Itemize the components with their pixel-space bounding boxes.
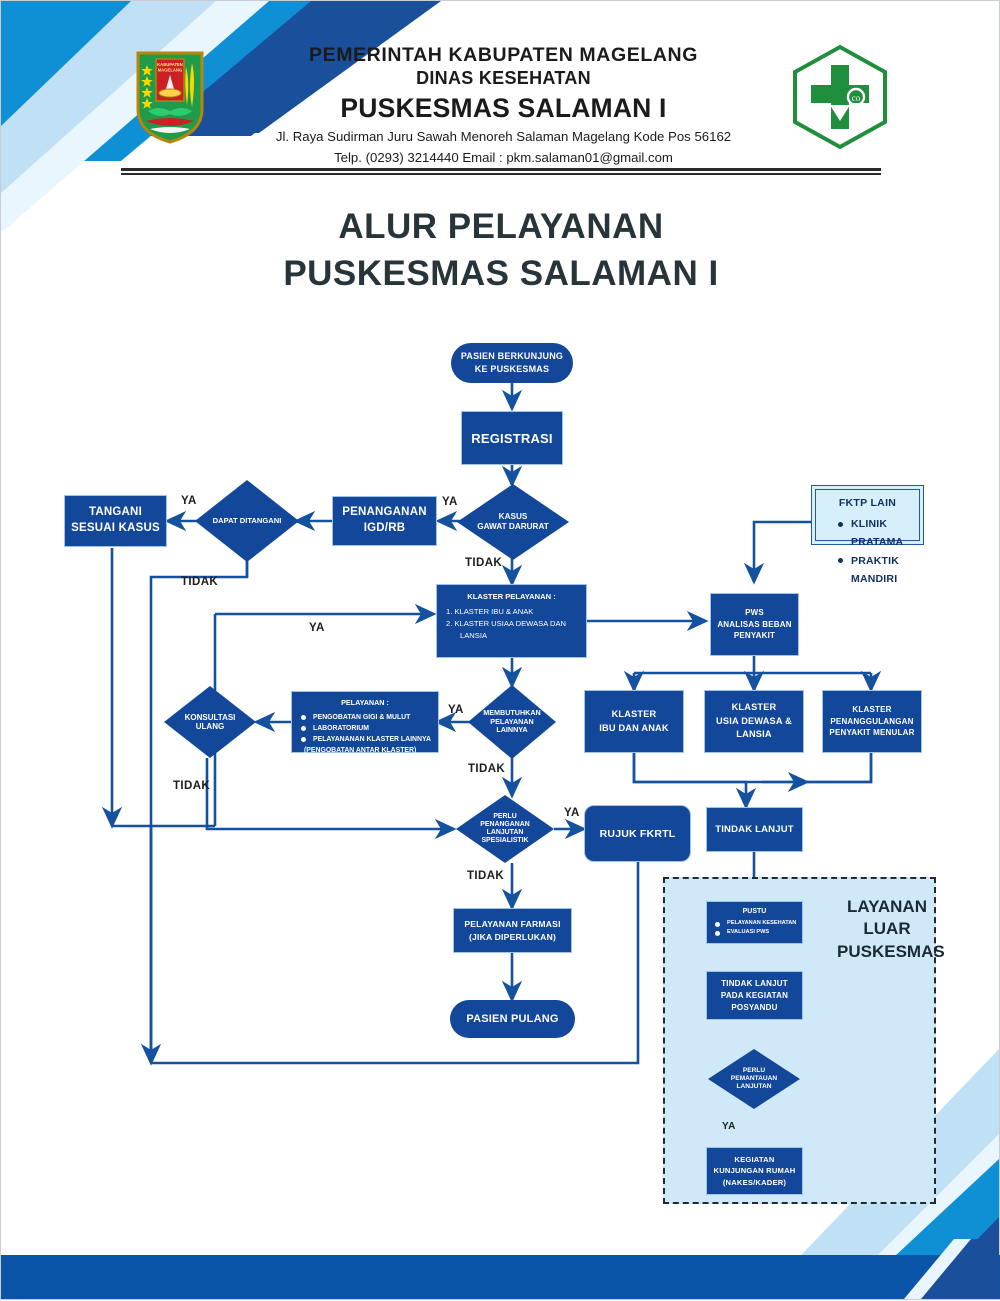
node-klaster-ibu-line1: KLASTER [591,708,677,721]
pelayanan-item-3-cont: (PENGOBATAN ANTAR KLASTER) [304,745,438,756]
node-pws-line3: PENYAKIT [717,630,792,642]
fktp-item-2: PRAKTIK MANDIRI [838,552,919,589]
node-posyandu-line1: TINDAK LANJUT [713,978,796,990]
fktp-title: FKTP LAIN [816,497,919,509]
node-posyandu-line2: PADA KEGIATAN [713,990,796,1002]
label-ya-dapat: YA [181,495,197,507]
pustu-item-2: EVALUASI PWS [714,928,802,937]
node-pasien-pulang: PASIEN PULANG [450,1000,575,1038]
node-rujuk-label: RUJUK FKRTL [591,828,684,840]
label-ya-pemantauan: YA [722,1121,736,1132]
node-pws-line2: ANALISAS BEBAN [717,619,792,631]
klaster-pelayanan-item-2: 2. KLASTER USIAA DEWASA DAN [446,618,586,630]
node-farmasi-line2: (JIKA DIPERLUKAN) [460,931,565,944]
node-tangani-sesuai-kasus: TANGANI SESUAI KASUS [64,495,167,547]
node-pulang-label: PASIEN PULANG [456,1013,569,1025]
panel-title-line3: PUSKESMAS [837,941,937,963]
label-tidak-spesialistik: TIDAK [467,870,504,882]
node-registrasi-label: REGISTRASI [468,431,556,446]
flowchart: PASIEN BERKUNJUNG KE PUSKESMAS REGISTRAS… [1,1,1000,1301]
panel-title: LAYANAN LUAR PUSKESMAS [837,896,937,963]
node-pemantauan-line2: PEMANTAUAN [731,1075,777,1083]
node-tindak-lanjut-posyandu: TINDAK LANJUT PADA KEGIATAN POSYANDU [706,971,803,1020]
node-rujuk-fkrtl: RUJUK FKRTL [584,805,691,862]
node-tangani-line2: SESUAI KASUS [71,521,160,537]
label-ya-gawat: YA [442,496,458,508]
node-klaster-menular-line2: PENANGGULANGAN [829,716,915,728]
klaster-pelayanan-item-1: 1. KLASTER IBU & ANAK [446,606,586,618]
node-membutuhkan-pelayanan-lainnya: MEMBUTUHKAN PELAYANAN LAINNYA [468,685,556,759]
node-kasus-gawat-darurat: KASUS GAWAT DARURAT [457,484,569,560]
node-pustu: PUSTU PELAYANAN KESEHATAN EVALUASI PWS [706,901,803,944]
node-klaster-menular-line3: PENYAKIT MENULAR [829,727,915,739]
node-klaster-usia-line3: LANSIA [711,728,797,741]
pustu-title: PUSTU [707,906,802,917]
node-penanganan-igd: PENANGANAN IGD/RB [332,496,437,546]
node-gawat-line1: KASUS [477,512,549,522]
node-konsultasi-line2: ULANG [185,722,236,731]
node-kunjungan-line1: KEGIATAN [713,1154,796,1165]
node-klaster-usia-line2: USIA DEWASA & [711,715,797,728]
poster-page: KABUPATEN MAGELANG PEMERINTAH KABUPATEN … [0,0,1000,1300]
node-perlu-line1: PERLU [480,813,529,821]
fktp-item-1: KLINIK PRATAMA [838,515,919,552]
pelayanan-title: PELAYANAN : [292,697,438,709]
node-klaster-usia-line1: KLASTER [711,701,797,714]
node-fktp-lain: FKTP LAIN KLINIK PRATAMA PRAKTIK MANDIRI [811,485,924,545]
node-igd-line1: PENANGANAN [339,505,430,521]
node-klaster-penanggulangan-penyakit-menular: KLASTER PENANGGULANGAN PENYAKIT MENULAR [822,690,922,753]
panel-title-line1: LAYANAN [837,896,937,918]
node-dapat-label: DAPAT DITANGANI [213,517,282,526]
pelayanan-item-3: PELAYANANAN KLASTER LAINNYA [300,734,438,745]
node-start: PASIEN BERKUNJUNG KE PUSKESMAS [451,343,573,383]
pelayanan-item-2: LABORATORIUM [300,723,438,734]
node-pelayanan-farmasi: PELAYANAN FARMASI (JIKA DIPERLUKAN) [453,908,572,953]
node-konsultasi-line1: KONSULTASI [185,713,236,722]
node-perlu-line4: SPESIALISTIK [480,837,529,845]
klaster-pelayanan-title: KLASTER PELAYANAN : [437,591,586,603]
node-pemantauan-line1: PERLU [731,1067,777,1075]
node-klaster-pelayanan: KLASTER PELAYANAN : 1. KLASTER IBU & ANA… [436,584,587,658]
label-ya-spesialistik: YA [564,807,580,819]
node-perlu-line3: LANJUTAN [480,829,529,837]
node-pelayanan-lain: PELAYANAN : PENGOBATAN GIGI & MULUT LABO… [291,691,439,753]
node-klaster-ibu-line2: IBU DAN ANAK [591,722,677,735]
node-kegiatan-kunjungan-rumah: KEGIATAN KUNJUNGAN RUMAH (NAKES/KADER) [706,1147,803,1195]
label-tidak-gawat: TIDAK [465,557,502,569]
label-tidak-membutuhkan: TIDAK [468,763,505,775]
node-start-line2: KE PUSKESMAS [457,363,567,376]
label-tidak-dapat: TIDAK [181,576,218,588]
node-perlu-pemantauan-lanjutan: PERLU PEMANTAUAN LANJUTAN [708,1049,800,1109]
node-dapat-ditangani: DAPAT DITANGANI [195,480,299,562]
node-perlu-line2: PENANGANAN [480,821,529,829]
klaster-pelayanan-item-3: LANSIA [446,630,586,642]
node-klaster-usia-dewasa-lansia: KLASTER USIA DEWASA & LANSIA [704,690,804,753]
node-klaster-ibu-dan-anak: KLASTER IBU DAN ANAK [584,690,684,753]
pustu-item-1: PELAYANAN KESEHATAN [714,919,802,928]
node-klaster-menular-line1: KLASTER [829,704,915,716]
node-gawat-line2: GAWAT DARURAT [477,522,549,532]
node-igd-line2: IGD/RB [339,521,430,537]
node-perlu-penanganan-spesialistik: PERLU PENANGANAN LANJUTAN SPESIALISTIK [456,795,554,863]
node-posyandu-line3: POSYANDU [713,1002,796,1014]
pelayanan-item-1: PENGOBATAN GIGI & MULUT [300,712,438,723]
node-farmasi-line1: PELAYANAN FARMASI [460,918,565,931]
node-tangani-line1: TANGANI [71,505,160,521]
node-start-line1: PASIEN BERKUNJUNG [457,350,567,363]
node-konsultasi-ulang: KONSULTASI ULANG [164,686,256,758]
node-registrasi: REGISTRASI [461,411,563,465]
node-pws-line1: PWS [717,607,792,619]
label-ya-membutuhkan: YA [448,704,464,716]
label-ya-klaster-return: YA [309,622,325,634]
node-pws-analisa-beban-penyakit: PWS ANALISAS BEBAN PENYAKIT [710,593,799,656]
node-tindak-lanjut: TINDAK LANJUT [706,807,803,852]
node-membutuhkan-line3: LAINNYA [483,726,541,734]
node-kunjungan-line3: (NAKES/KADER) [713,1177,796,1188]
node-pemantauan-line3: LANJUTAN [731,1083,777,1091]
node-tindak-lanjut-label: TINDAK LANJUT [713,824,796,835]
node-kunjungan-line2: KUNJUNGAN RUMAH [713,1165,796,1176]
panel-title-line2: LUAR [837,918,937,940]
label-tidak-konsultasi: TIDAK [173,780,210,792]
